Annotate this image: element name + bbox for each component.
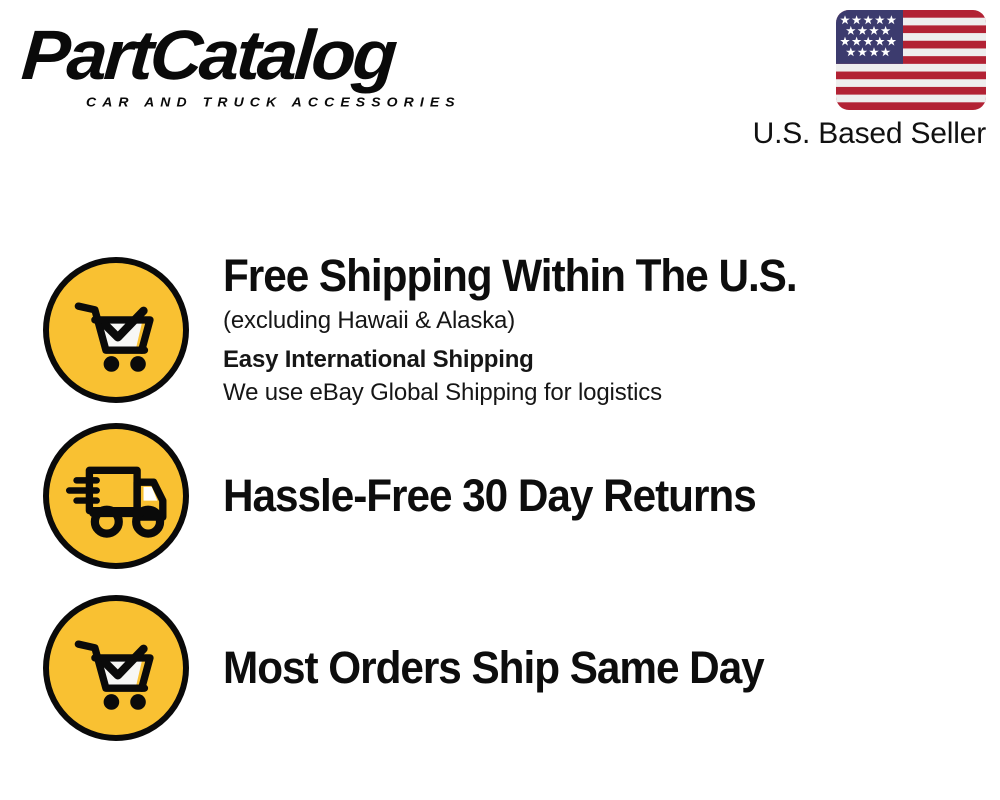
brand-tagline: CAR AND TRUCK ACCESSORIES	[86, 95, 461, 110]
benefit-row: Hassle-Free 30 Day Returns	[0, 423, 1000, 569]
partcatalog-logo: PartCatalog CAR AND TRUCK ACCESSORIES	[22, 18, 492, 113]
us-flag-icon	[836, 10, 986, 110]
benefit-title: Most Orders Ship Same Day	[223, 642, 935, 694]
page-header: PartCatalog CAR AND TRUCK ACCESSORIES	[0, 0, 1000, 170]
benefit-title: Hassle-Free 30 Day Returns	[223, 470, 935, 522]
benefit-subtext-heading: Easy International Shipping	[223, 343, 980, 376]
benefit-row: Free Shipping Within The U.S. (excluding…	[0, 250, 1000, 409]
shopping-cart-check-icon	[43, 595, 189, 741]
us-based-seller-label: U.S. Based Seller	[716, 116, 986, 152]
benefit-title: Free Shipping Within The U.S.	[223, 250, 935, 302]
benefit-subtext: We use eBay Global Shipping for logistic…	[223, 376, 980, 409]
brand-wordmark: PartCatalog	[19, 18, 513, 92]
benefit-text-block: Most Orders Ship Same Day	[223, 642, 1000, 694]
us-based-seller-badge: U.S. Based Seller	[716, 10, 986, 152]
benefit-text-block: Hassle-Free 30 Day Returns	[223, 470, 1000, 522]
benefit-subtext: (excluding Hawaii & Alaska)	[223, 304, 980, 337]
benefit-text-block: Free Shipping Within The U.S. (excluding…	[223, 250, 1000, 409]
delivery-truck-icon	[43, 423, 189, 569]
shopping-cart-check-icon	[43, 257, 189, 403]
benefit-row: Most Orders Ship Same Day	[0, 595, 1000, 741]
